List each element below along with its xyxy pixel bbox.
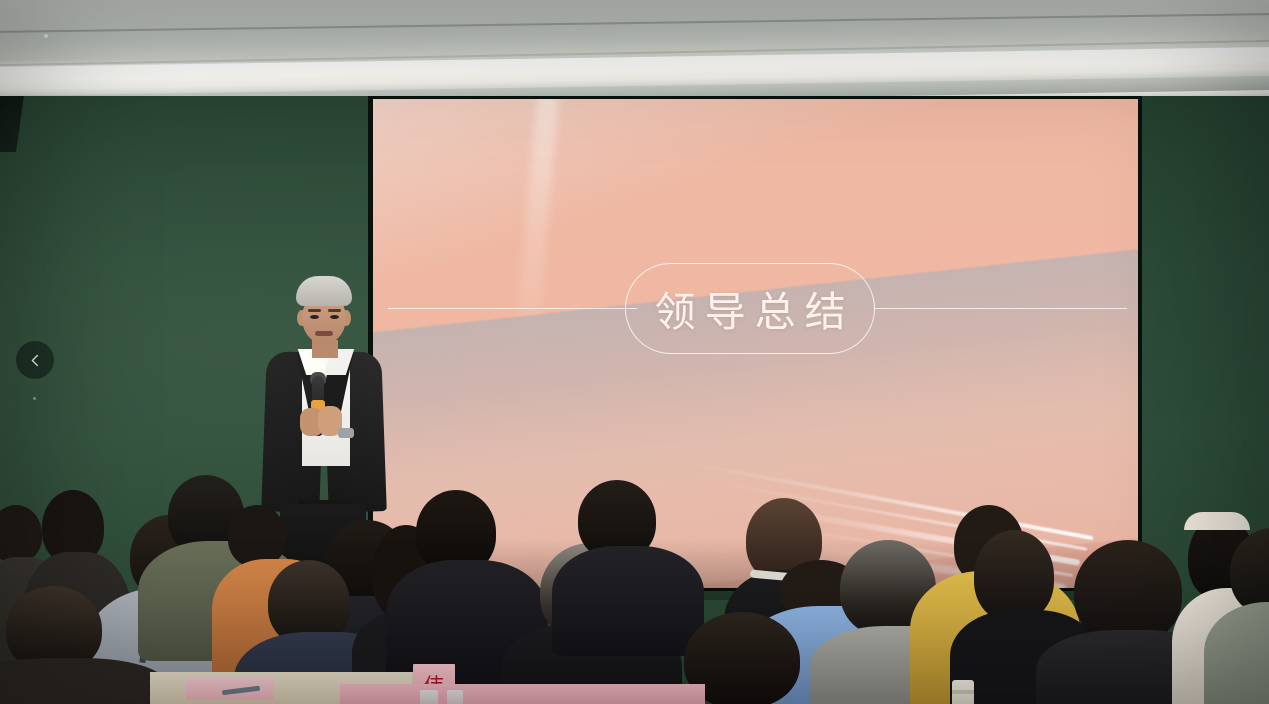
presenter-eye <box>310 315 319 319</box>
attendee-sage-jacket <box>1222 528 1269 704</box>
slide-rule-left <box>388 308 637 309</box>
attendee-body <box>0 658 166 704</box>
presenter-watch <box>338 428 354 438</box>
water-glass <box>447 690 463 704</box>
attendee-head <box>974 530 1054 622</box>
attendee-front-left <box>0 586 146 704</box>
ceiling-seam <box>0 13 1269 33</box>
nav-indicator-dot <box>33 397 36 400</box>
desk-skirt-right <box>455 684 705 704</box>
presenter-eye <box>330 315 339 319</box>
screenshot-root: 领导总结 <box>0 0 1269 704</box>
slide-rule-right <box>874 308 1126 309</box>
chevron-left-icon <box>28 353 43 368</box>
attendee-head <box>228 505 286 567</box>
presenter-eyebrow <box>308 309 321 312</box>
previous-slide-button[interactable] <box>16 341 54 379</box>
ceiling-screw <box>44 34 48 38</box>
attendee-head <box>1074 540 1182 644</box>
presenter-mouth <box>315 331 333 336</box>
slide-title: 领导总结 <box>646 278 855 338</box>
water-glass <box>420 690 438 704</box>
presenter-eyebrow <box>328 309 341 312</box>
presenter-hair <box>296 276 352 306</box>
slide-title-pill: 领导总结 <box>625 263 874 354</box>
thermos-band <box>952 690 974 694</box>
attendee-black-suit-right-of-center <box>560 480 690 630</box>
